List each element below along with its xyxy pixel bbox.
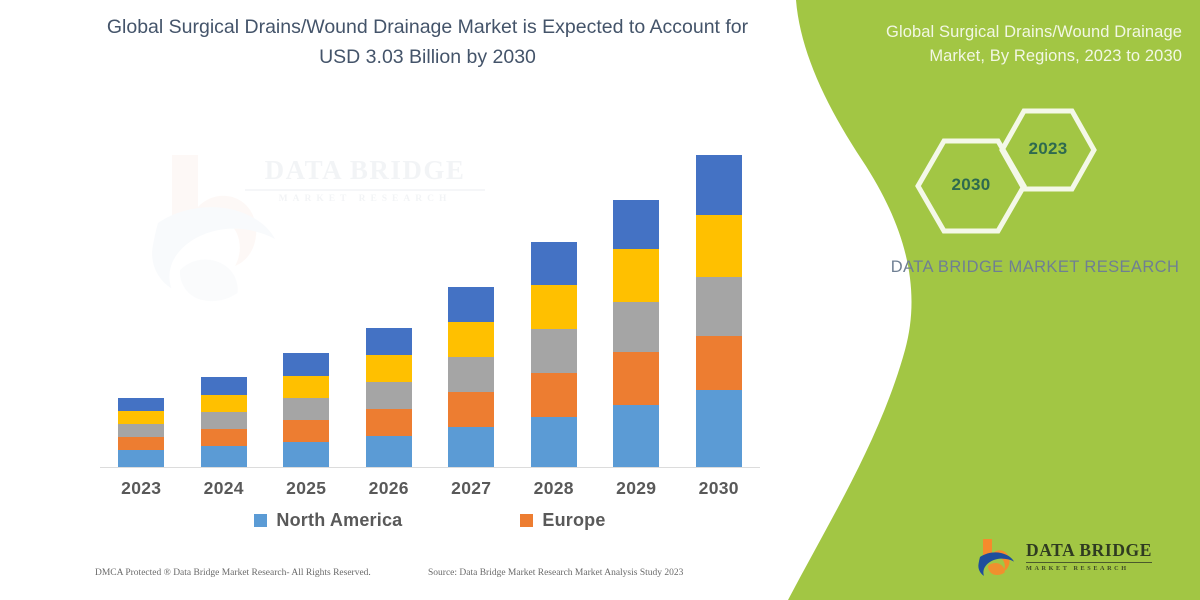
x-axis-label-2024: 2024 (183, 478, 266, 499)
x-axis-label-2026: 2026 (348, 478, 431, 499)
bar-segment-south-america (118, 411, 164, 424)
bar-segment-south-america (283, 376, 329, 398)
x-axis-line (100, 467, 760, 468)
hexagon-2030: 2030 (915, 138, 1027, 234)
bar-segment-north-america (366, 436, 412, 467)
hexagon-2030-label: 2030 (915, 175, 1027, 195)
data-bridge-logo: DATA BRIDGE MARKET RESEARCH (975, 533, 1180, 581)
footer: DMCA Protected ® Data Bridge Market Rese… (0, 568, 790, 592)
bar-segment-europe (613, 352, 659, 405)
legend-item-north-america[interactable]: North America (254, 510, 402, 531)
bar-segment-north-america (613, 405, 659, 467)
bar-column-2025 (265, 140, 348, 467)
bar-segment-north-america (448, 427, 494, 467)
bar-segment-south-america (613, 249, 659, 302)
bar-segment-asia-pacific (118, 424, 164, 437)
bar-segment-south-america (366, 355, 412, 382)
bar-segment-europe (201, 429, 247, 446)
bar-segment-asia-pacific (448, 357, 494, 392)
x-axis-label-2027: 2027 (430, 478, 513, 499)
bar-segment-south-america (201, 395, 247, 412)
bar-segment-asia-pacific (201, 412, 247, 429)
stacked-bar (366, 328, 412, 467)
panel-title: Global Surgical Drains/Wound Drainage Ma… (882, 20, 1182, 69)
bar-segment-middle-east-and-africa (448, 287, 494, 322)
panel-brand-text: DATA BRIDGE MARKET RESEARCH (890, 255, 1180, 280)
legend-item-europe[interactable]: Europe (520, 510, 605, 531)
bar-segment-south-america (448, 322, 494, 357)
legend-swatch-icon (254, 514, 267, 527)
panel-content: Global Surgical Drains/Wound Drainage Ma… (870, 0, 1200, 600)
bar-segment-middle-east-and-africa (531, 242, 577, 285)
bar-segment-europe (283, 420, 329, 442)
bar-column-2026 (348, 140, 431, 467)
chart-title: Global Surgical Drains/Wound Drainage Ma… (100, 12, 755, 72)
hexagon-badges: 2023 2030 (915, 108, 1115, 213)
bar-segment-asia-pacific (531, 329, 577, 373)
logo-sub-text: MARKET RESEARCH (1026, 566, 1152, 572)
logo-divider (1026, 562, 1152, 563)
stacked-bar (283, 353, 329, 467)
bar-segment-middle-east-and-africa (366, 328, 412, 355)
bar-segment-asia-pacific (366, 382, 412, 409)
bar-segment-middle-east-and-africa (696, 155, 742, 215)
x-axis-label-2023: 2023 (100, 478, 183, 499)
legend-label: Europe (542, 510, 605, 531)
bar-segment-north-america (283, 442, 329, 467)
x-axis-label-2025: 2025 (265, 478, 348, 499)
bar-segment-middle-east-and-africa (283, 353, 329, 376)
bar-segment-north-america (696, 390, 742, 467)
infographic-canvas: Global Surgical Drains/Wound Drainage Ma… (0, 0, 1200, 600)
bar-column-2027 (430, 140, 513, 467)
bar-column-2030 (678, 140, 761, 467)
bar-segment-europe (696, 336, 742, 390)
bar-segment-middle-east-and-africa (201, 377, 247, 395)
legend-swatch-icon (520, 514, 533, 527)
stacked-bar (448, 287, 494, 467)
stacked-bar (118, 398, 164, 467)
footer-dmca-text: DMCA Protected ® Data Bridge Market Rese… (95, 568, 371, 578)
stacked-bar (613, 200, 659, 467)
bar-segment-europe (366, 409, 412, 436)
logo-main-text: DATA BRIDGE (1026, 542, 1152, 560)
bar-column-2024 (183, 140, 266, 467)
x-axis-label-2029: 2029 (595, 478, 678, 499)
bar-segment-north-america (118, 450, 164, 467)
legend-label: North America (276, 510, 402, 531)
bar-segment-south-america (696, 215, 742, 277)
x-axis-label-2030: 2030 (678, 478, 761, 499)
bar-segment-north-america (531, 417, 577, 467)
stacked-bar (531, 242, 577, 467)
bar-segment-asia-pacific (696, 277, 742, 336)
bar-segment-europe (448, 392, 494, 427)
bar-column-2029 (595, 140, 678, 467)
x-axis-labels: 20232024202520262027202820292030 (100, 478, 760, 499)
logo-wordmark: DATA BRIDGE MARKET RESEARCH (1026, 542, 1152, 572)
bar-segment-europe (118, 437, 164, 450)
bar-segment-asia-pacific (283, 398, 329, 420)
bar-segment-south-america (531, 285, 577, 329)
chart-legend: North AmericaEurope (100, 510, 760, 531)
bar-segment-europe (531, 373, 577, 417)
x-axis-label-2028: 2028 (513, 478, 596, 499)
bar-segment-north-america (201, 446, 247, 467)
stacked-bar-chart (100, 140, 760, 467)
bar-segment-middle-east-and-africa (118, 398, 164, 411)
logo-b-mark-icon (975, 535, 1019, 579)
bar-column-2028 (513, 140, 596, 467)
bar-segment-middle-east-and-africa (613, 200, 659, 249)
stacked-bar (696, 155, 742, 467)
footer-source-text: Source: Data Bridge Market Research Mark… (428, 568, 683, 578)
stacked-bar (201, 377, 247, 467)
bar-column-2023 (100, 140, 183, 467)
bar-segment-asia-pacific (613, 302, 659, 352)
